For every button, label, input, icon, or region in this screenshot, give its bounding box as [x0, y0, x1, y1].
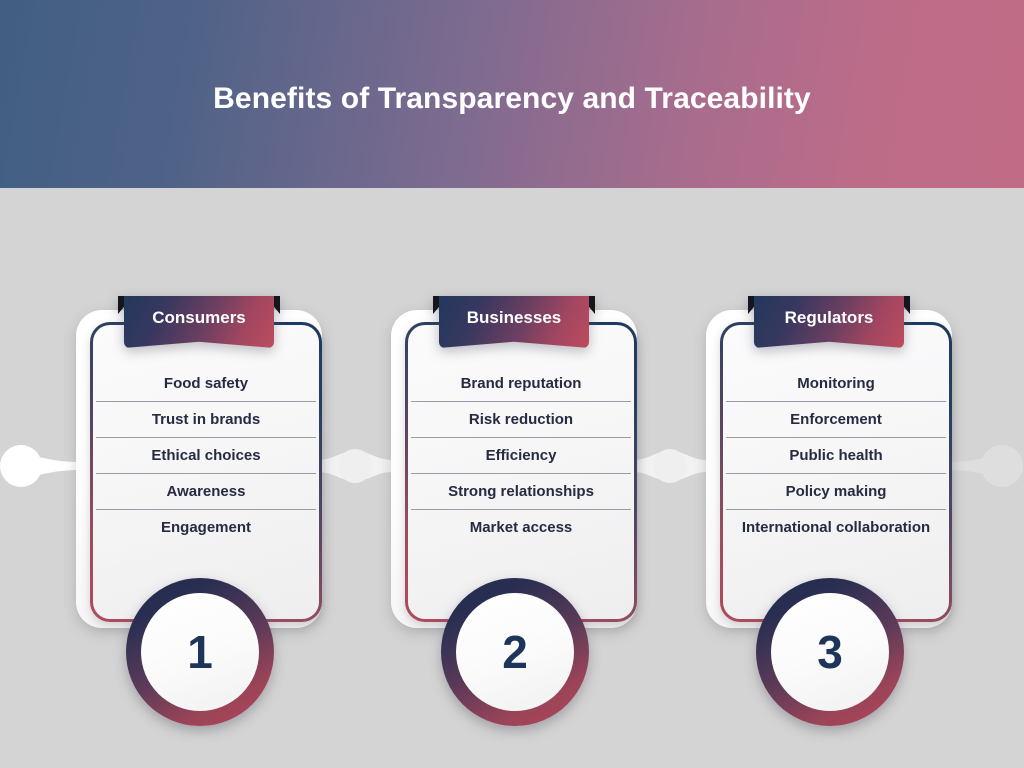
list-item: International collaboration [726, 510, 946, 545]
connector-left-edge [0, 443, 80, 489]
card-ribbon: Regulators [748, 296, 910, 354]
benefit-card-businesses[interactable]: Brand reputation Risk reduction Efficien… [387, 296, 641, 716]
list-item: Enforcement [726, 402, 946, 438]
infographic-canvas: Benefits of Transparency and Traceabilit… [0, 0, 1024, 768]
step-number-badge: 1 [126, 578, 274, 726]
list-item: Risk reduction [411, 402, 631, 438]
list-item: Strong relationships [411, 474, 631, 510]
ribbon-title: Businesses [439, 296, 589, 340]
ribbon-title: Consumers [124, 296, 274, 340]
list-item: Monitoring [726, 366, 946, 402]
list-item: Market access [411, 510, 631, 545]
benefit-card-consumers[interactable]: Food safety Trust in brands Ethical choi… [72, 296, 326, 716]
connector-between-1-and-2 [318, 443, 392, 489]
header-band: Benefits of Transparency and Traceabilit… [0, 0, 1024, 188]
card-ribbon: Consumers [118, 296, 280, 354]
ribbon-title: Regulators [754, 296, 904, 340]
benefit-list: Brand reputation Risk reduction Efficien… [411, 366, 631, 545]
step-number: 1 [141, 593, 259, 711]
list-item: Awareness [96, 474, 316, 510]
card-ribbon: Businesses [433, 296, 595, 354]
step-number: 2 [456, 593, 574, 711]
list-item: Policy making [726, 474, 946, 510]
connector-right-edge [948, 443, 1024, 489]
step-number-badge: 3 [756, 578, 904, 726]
step-number: 3 [771, 593, 889, 711]
benefit-list: Food safety Trust in brands Ethical choi… [96, 366, 316, 545]
list-item: Public health [726, 438, 946, 474]
step-number-badge: 2 [441, 578, 589, 726]
list-item: Brand reputation [411, 366, 631, 402]
benefit-list: Monitoring Enforcement Public health Pol… [726, 366, 946, 545]
list-item: Ethical choices [96, 438, 316, 474]
page-title: Benefits of Transparency and Traceabilit… [0, 79, 1024, 119]
list-item: Trust in brands [96, 402, 316, 438]
benefit-card-regulators[interactable]: Monitoring Enforcement Public health Pol… [702, 296, 956, 716]
list-item: Efficiency [411, 438, 631, 474]
list-item: Food safety [96, 366, 316, 402]
list-item: Engagement [96, 510, 316, 545]
connector-between-2-and-3 [633, 443, 707, 489]
